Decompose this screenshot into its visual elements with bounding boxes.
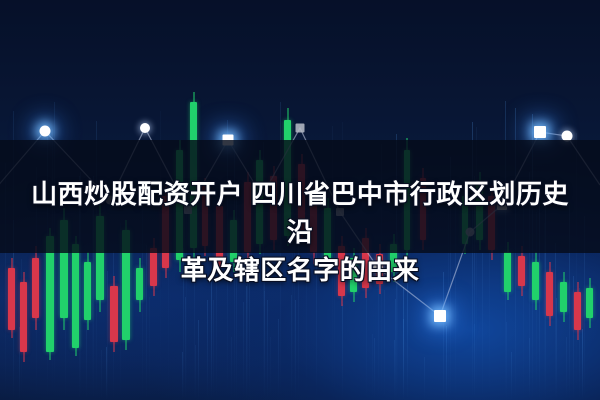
trend-node-square-marker: [434, 310, 446, 322]
page-title: 山西炒股配资开户 四川省巴中市行政区划历史沿革及辖区名字的由来: [0, 175, 600, 289]
trend-node-square-marker: [296, 124, 305, 133]
trend-node-square-marker: [534, 126, 546, 138]
trend-node-circle-marker: [40, 126, 51, 137]
thumbnail-canvas: 山西炒股配资开户 四川省巴中市行政区划历史沿革及辖区名字的由来: [0, 0, 600, 400]
trend-node-circle-marker: [140, 123, 150, 133]
page-title-line-2: 革及辖区名字的由来: [18, 251, 582, 289]
page-title-line-1: 山西炒股配资开户 四川省巴中市行政区划历史沿: [18, 175, 582, 251]
